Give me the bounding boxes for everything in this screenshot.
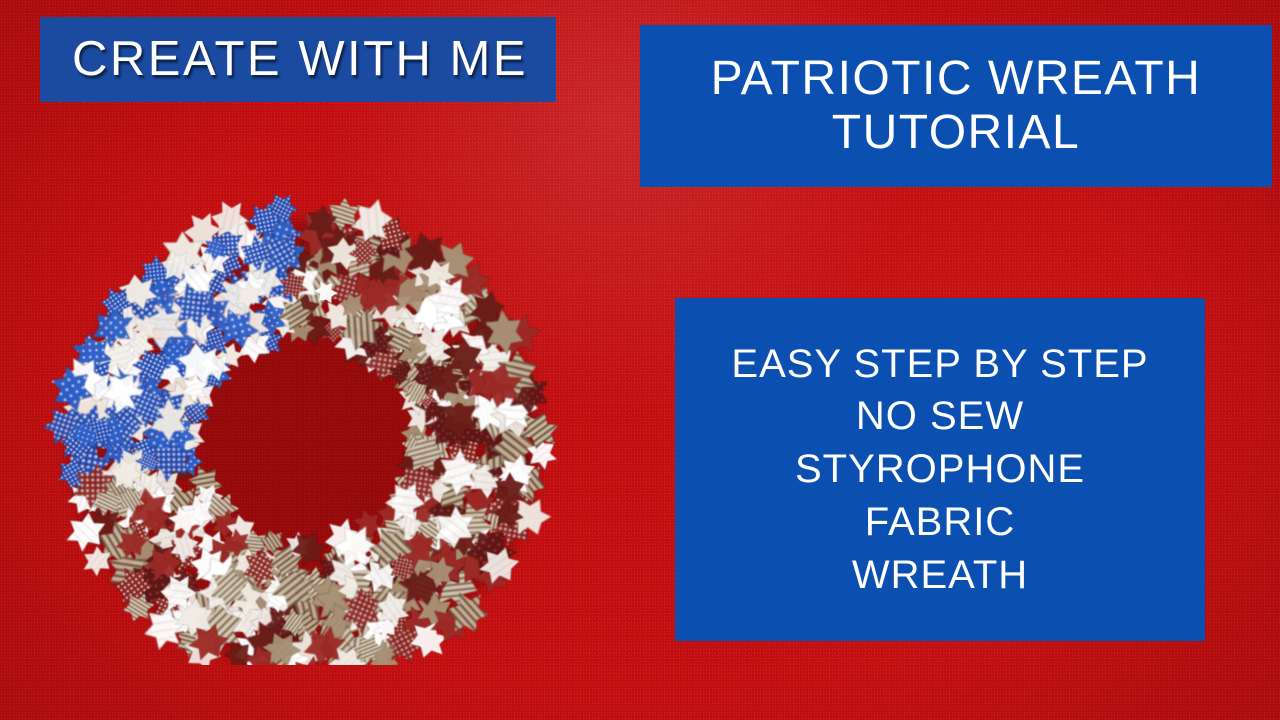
- feature-line-1: EASY STEP BY STEP: [731, 342, 1148, 387]
- banner-features: EASY STEP BY STEP NO SEW STYROPHONE FABR…: [675, 298, 1205, 641]
- feature-line-5: WREATH: [852, 553, 1028, 598]
- create-with-me-text: CREATE WITH ME: [68, 32, 528, 87]
- banner-title: PATRIOTIC WREATH TUTORIAL: [640, 25, 1272, 187]
- title-line-2: TUTORIAL: [832, 106, 1080, 160]
- feature-line-2: NO SEW: [856, 394, 1024, 439]
- title-line-1: PATRIOTIC WREATH: [711, 52, 1202, 106]
- wreath-illustration: [42, 150, 592, 665]
- feature-line-4: FABRIC: [865, 500, 1015, 545]
- feature-line-3: STYROPHONE: [795, 447, 1085, 492]
- banner-create-with-me: CREATE WITH ME: [40, 17, 556, 102]
- thumbnail-canvas: CREATE WITH ME PATRIOTIC WREATH TUTORIAL…: [0, 0, 1280, 720]
- wreath-photo: [42, 150, 592, 665]
